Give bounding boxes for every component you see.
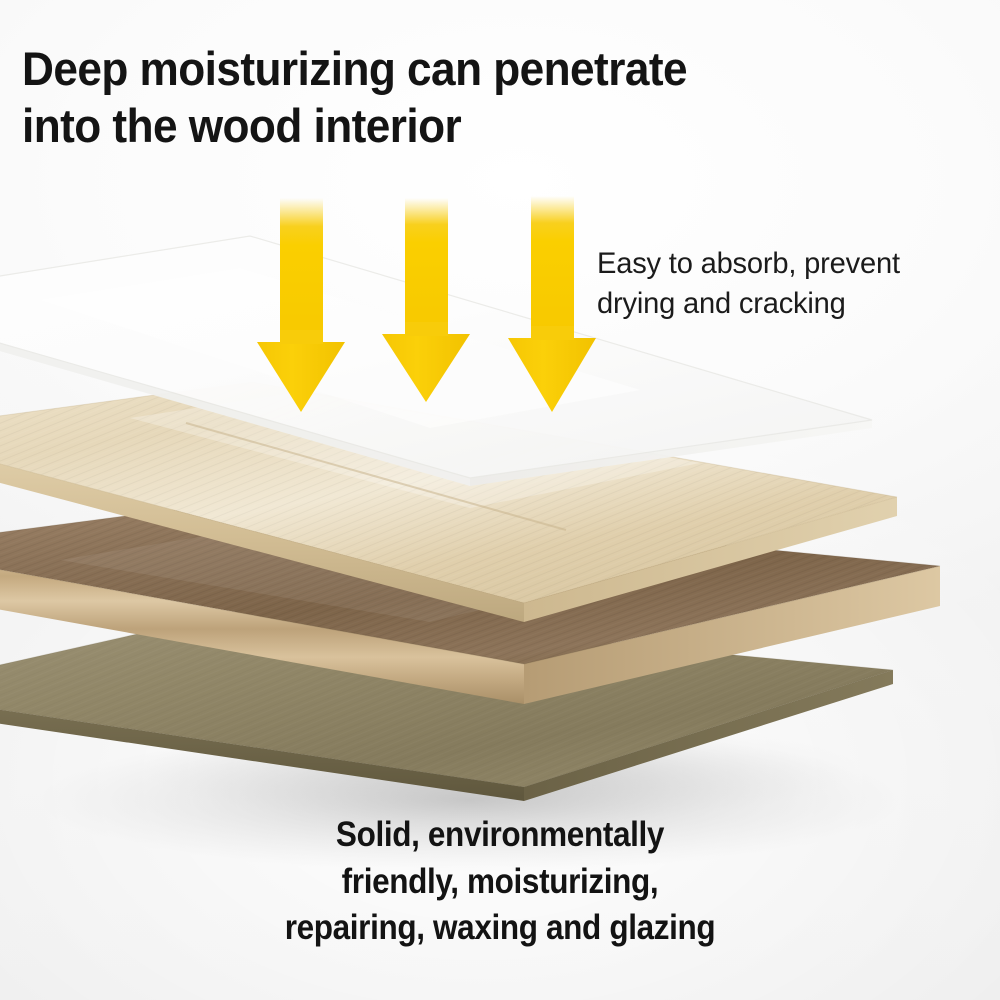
benefit-caption-properties: Solid, environmentally friendly, moistur… <box>50 812 950 952</box>
absorption-arrow-1 <box>257 198 345 412</box>
absorption-arrow-2 <box>382 198 470 402</box>
absorption-arrow-3 <box>508 196 596 412</box>
infographic-canvas: Deep moisturizing can penetrate into the… <box>0 0 1000 1000</box>
page-title: Deep moisturizing can penetrate into the… <box>22 40 849 155</box>
benefit-caption-absorb: Easy to absorb, prevent drying and crack… <box>597 244 985 324</box>
